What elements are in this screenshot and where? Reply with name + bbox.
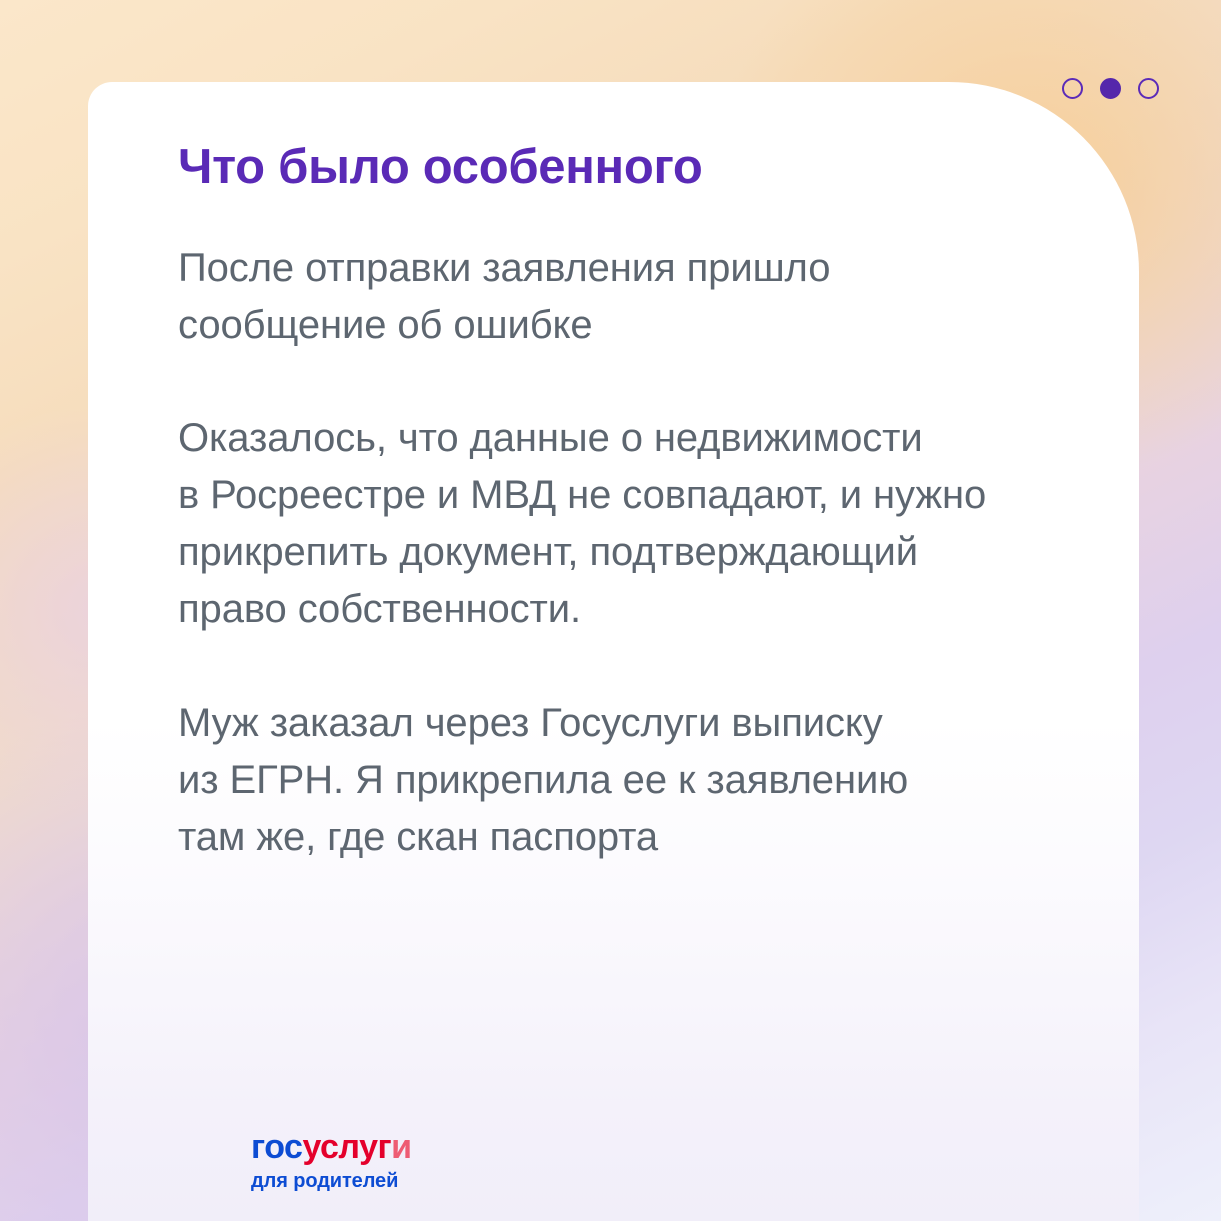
logo-text-i: и — [391, 1128, 411, 1166]
logo-text-gos: гос — [251, 1128, 302, 1166]
pagination-dot-2-active[interactable] — [1100, 78, 1121, 99]
gosuslugi-logo: госуслуги для родителей — [251, 1130, 412, 1193]
slide-canvas: Что было особенного После отправки заявл… — [0, 0, 1221, 1221]
pagination-dots — [1062, 78, 1159, 99]
paragraph-error-message: После отправки заявления пришло сообщени… — [178, 240, 1079, 354]
paragraph-mismatch-explanation: Оказалось, что данные о недвижимости в Р… — [178, 410, 1079, 638]
card-content: Что было особенного После отправки заявл… — [178, 140, 1079, 866]
logo-subtitle: для родителей — [251, 1170, 412, 1193]
gosuslugi-wordmark: госуслуги — [251, 1130, 412, 1164]
pagination-dot-3[interactable] — [1138, 78, 1159, 99]
paragraph-egrn-attachment: Муж заказал через Госуслуги выписку из Е… — [178, 695, 1079, 866]
page-title: Что было особенного — [178, 140, 1079, 195]
logo-text-uslug: услуг — [302, 1128, 391, 1166]
pagination-dot-1[interactable] — [1062, 78, 1083, 99]
content-card: Что было особенного После отправки заявл… — [88, 82, 1139, 1221]
